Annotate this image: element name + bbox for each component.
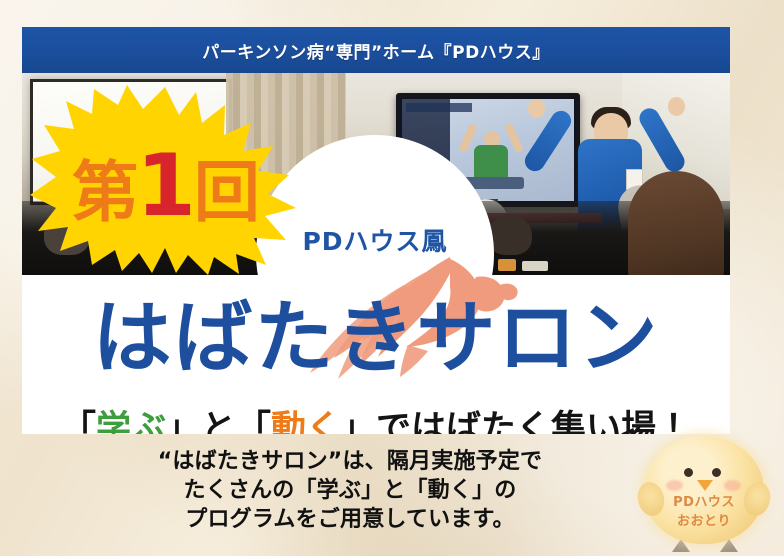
- photo-equipment: [498, 259, 516, 271]
- chick-label-line-2: おおとり: [634, 513, 774, 532]
- chick-cheek-left: [666, 480, 683, 491]
- top-banner: パーキンソン病“専門”ホーム『PDハウス』: [22, 27, 730, 73]
- tagline-open-bracket: 「: [61, 409, 96, 434]
- badge-suffix: 回: [194, 154, 258, 231]
- badge-number: 1: [136, 136, 194, 236]
- description-line-2: たくさんの「学ぶ」と「動く」の: [60, 476, 640, 505]
- main-wordmark: はばたきサロン: [22, 299, 730, 378]
- photo-staff-hand-left: [528, 99, 545, 118]
- photo-staff-hand-right: [668, 97, 685, 116]
- photo-audience-head: [488, 215, 532, 255]
- chick-label-line-1: PDハウス: [634, 494, 774, 513]
- tagline-middle: 」と「: [166, 409, 271, 434]
- tagline-move: 動く: [271, 409, 341, 434]
- first-session-badge: 第1回: [30, 85, 300, 275]
- chick-eye-right: [712, 468, 721, 477]
- tagline-learn: 学ぶ: [96, 409, 166, 434]
- photo-tv-caption-band: [406, 103, 472, 112]
- badge-prefix: 第: [72, 154, 136, 231]
- chick-eye-left: [684, 468, 693, 477]
- poster-root: パーキンソン病“専門”ホーム『PDハウス』: [0, 0, 784, 556]
- description-line-3: プログラムをご用意しています。: [60, 505, 640, 534]
- tagline-tail: 」ではばたく集い場！: [341, 409, 691, 434]
- chick-cheek-right: [724, 480, 741, 491]
- photo-tv-instructor-body: [474, 145, 508, 181]
- chick-mascot-icon: PDハウス おおとり: [634, 432, 774, 554]
- photo-foreground-person-hair: [628, 171, 724, 275]
- description-line-1: “はばたきサロン”は、隔月実施予定で: [60, 447, 640, 476]
- chick-beak: [697, 480, 713, 491]
- description-text: “はばたきサロン”は、隔月実施予定で たくさんの「学ぶ」と「動く」の プログラム…: [60, 447, 640, 534]
- badge-label: 第1回: [30, 143, 300, 229]
- banner-title: パーキンソン病“専門”ホーム『PDハウス』: [202, 38, 549, 63]
- photo-equipment: [522, 261, 548, 271]
- chick-label: PDハウス おおとり: [634, 494, 774, 532]
- tagline: 「学ぶ」と「動く」ではばたく集い場！: [22, 412, 730, 434]
